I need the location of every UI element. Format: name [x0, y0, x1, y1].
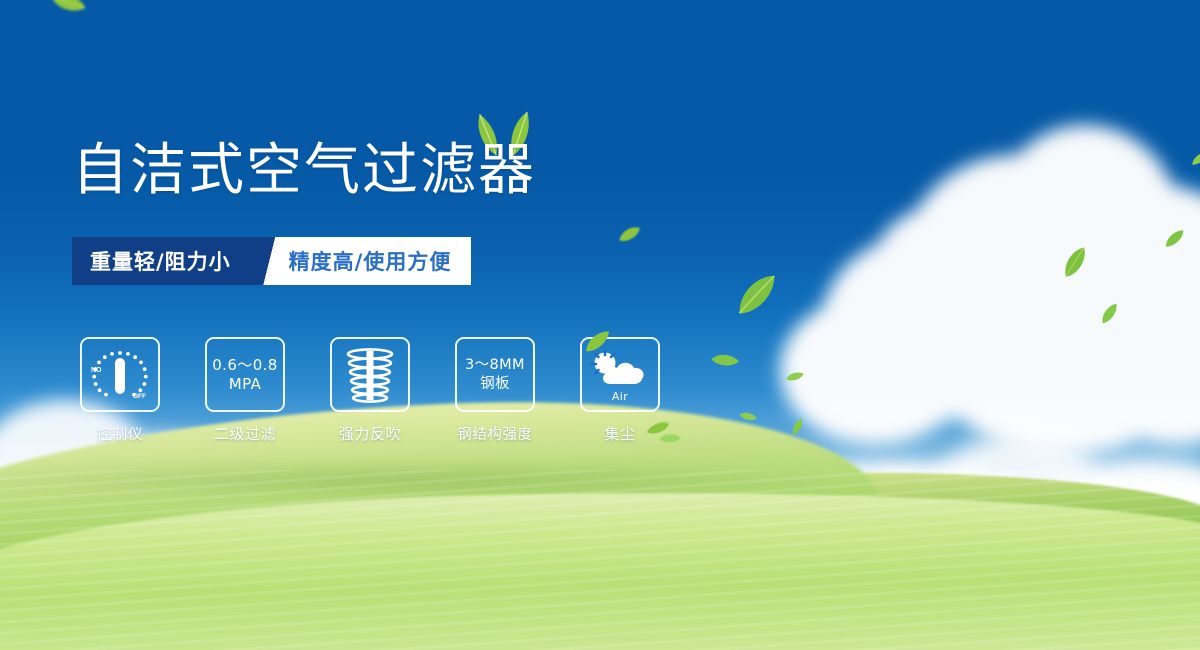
feature-label: 强力反吹	[339, 423, 401, 444]
feature-label: 二级过滤	[214, 423, 276, 444]
gauge-off-label: OFF	[133, 393, 146, 400]
feature-item-reverse-blow[interactable]: 强力反吹	[330, 337, 410, 444]
tagline-separator	[257, 237, 283, 285]
tagline-right-text: 精度高/使用方便	[283, 237, 472, 285]
feature-label: 控制仪	[97, 423, 144, 444]
banner-content: 自洁式空气过滤器 重量轻/阻力小 精度高/使用方便	[0, 0, 1200, 650]
feature-icon-box: Air	[580, 337, 660, 412]
pressure-range-text: 0.6～0.8	[212, 356, 278, 375]
steel-plate-text: 钢板	[480, 375, 510, 393]
feature-list: NO OFF 控制仪 0.6～0.8 MPA 二级过滤	[80, 337, 660, 444]
steel-thickness-text: 3～8MM	[465, 356, 525, 374]
gauge-no-label: NO	[91, 367, 102, 374]
feature-item-steel-strength[interactable]: 3～8MM 钢板 钢结构强度	[455, 337, 535, 444]
pressure-unit-text: MPA	[229, 375, 262, 394]
feature-icon-box: 0.6～0.8 MPA	[205, 337, 285, 412]
feature-icon-box: NO OFF	[80, 337, 160, 412]
feature-item-two-stage-filter[interactable]: 0.6～0.8 MPA 二级过滤	[205, 337, 285, 444]
air-text: Air	[612, 390, 628, 404]
feature-icon-box: 3～8MM 钢板	[455, 337, 535, 412]
cloud-sun-icon	[589, 348, 651, 392]
coil-stack-icon	[342, 346, 398, 404]
tagline-badge: 重量轻/阻力小 精度高/使用方便	[72, 237, 471, 285]
gauge-icon: NO OFF	[87, 346, 153, 404]
feature-icon-box	[330, 337, 410, 412]
page-title: 自洁式空气过滤器	[72, 143, 536, 199]
product-banner: 自洁式空气过滤器 重量轻/阻力小 精度高/使用方便	[0, 0, 1200, 650]
feature-label: 钢结构强度	[457, 423, 533, 444]
feature-item-control-instrument[interactable]: NO OFF 控制仪	[80, 337, 160, 444]
feature-label: 集尘	[604, 423, 635, 444]
tagline-left-text: 重量轻/阻力小	[72, 237, 257, 285]
